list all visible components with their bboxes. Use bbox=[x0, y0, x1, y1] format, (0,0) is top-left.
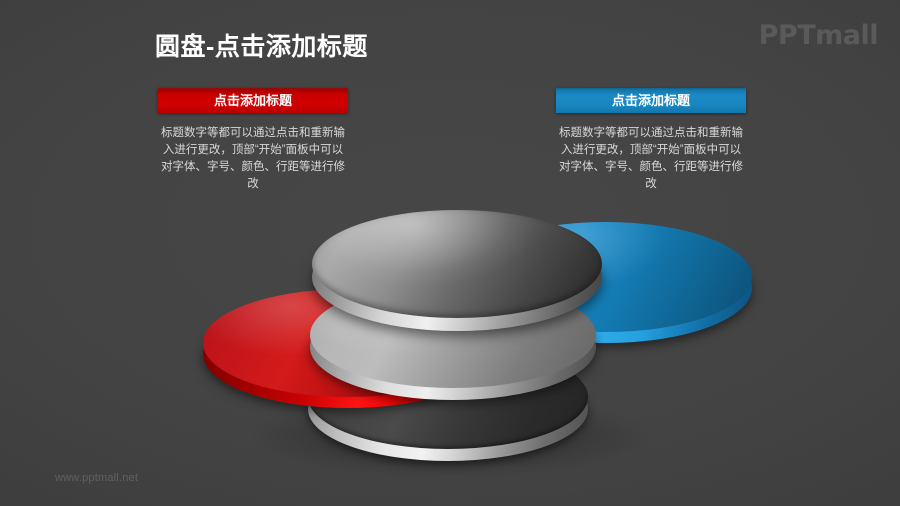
middle-gray-disc[interactable] bbox=[310, 282, 596, 388]
slide-canvas: 圆盘-点击添加标题 PPTmall 点击添加标题 标题数字等都可以通过点击和重新 bbox=[0, 0, 900, 506]
top-gray-disc-rim bbox=[312, 223, 602, 331]
bottom-dark-disc[interactable] bbox=[308, 345, 588, 449]
red-disc[interactable] bbox=[203, 289, 493, 397]
callout-left: 点击添加标题 标题数字等都可以通过点击和重新输入进行更改，顶部“开始”面板中可以… bbox=[158, 88, 348, 193]
red-disc-rim bbox=[203, 300, 493, 408]
callout-right-banner[interactable]: 点击添加标题 bbox=[556, 88, 746, 113]
stack-shadow bbox=[250, 398, 650, 476]
red-disc-face bbox=[203, 289, 493, 397]
footer-url[interactable]: www.pptmall.net bbox=[55, 472, 138, 484]
middle-gray-disc-rim bbox=[310, 294, 596, 400]
blue-disc-rim bbox=[460, 233, 752, 343]
callout-right-body[interactable]: 标题数字等都可以通过点击和重新输入进行更改，顶部“开始”面板中可以对字体、字号、… bbox=[556, 125, 746, 193]
top-gray-disc-face bbox=[312, 210, 602, 318]
callout-left-banner[interactable]: 点击添加标题 bbox=[158, 88, 348, 113]
pptmall-logo: PPTmall bbox=[759, 22, 878, 49]
blue-disc-face bbox=[460, 222, 752, 332]
bottom-dark-disc-rim bbox=[308, 357, 588, 461]
page-title: 圆盘-点击添加标题 bbox=[155, 27, 368, 63]
middle-gray-disc-face bbox=[310, 282, 596, 388]
top-gray-disc[interactable] bbox=[312, 210, 602, 318]
callout-left-body[interactable]: 标题数字等都可以通过点击和重新输入进行更改，顶部“开始”面板中可以对字体、字号、… bbox=[158, 125, 348, 193]
bottom-dark-disc-face bbox=[308, 345, 588, 449]
callout-right: 点击添加标题 标题数字等都可以通过点击和重新输入进行更改，顶部“开始”面板中可以… bbox=[556, 88, 746, 193]
blue-disc[interactable] bbox=[460, 222, 752, 332]
disc-diagram bbox=[0, 0, 900, 506]
